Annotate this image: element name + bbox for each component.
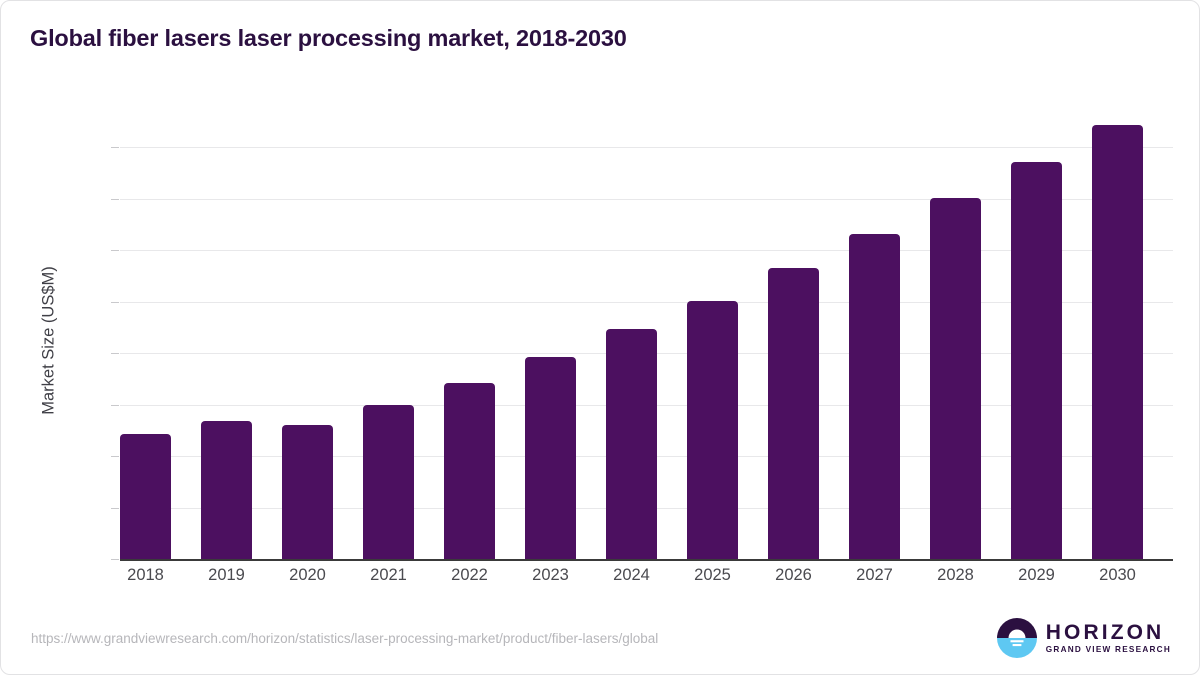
y-tick-label: 0 [0, 550, 1, 569]
horizon-sun-circle-icon [997, 618, 1037, 658]
y-tick-mark [111, 456, 119, 457]
y-tick-mark [111, 559, 119, 560]
y-tick-label: 3k [0, 396, 1, 415]
bar-2024[interactable] [606, 329, 657, 559]
y-tick-label: 5k [0, 293, 1, 312]
x-tick-label-2020: 2020 [263, 566, 353, 585]
y-tick-label: 1k [0, 499, 1, 518]
bar-2028[interactable] [930, 198, 981, 559]
source-url[interactable]: https://www.grandviewresearch.com/horizo… [31, 631, 658, 646]
x-tick-label-2025: 2025 [668, 566, 758, 585]
logo-wordmark: HORIZON [1046, 622, 1171, 643]
x-tick-label-2024: 2024 [587, 566, 677, 585]
y-tick-mark [111, 302, 119, 303]
y-axis-title: Market Size (US$M) [40, 231, 59, 451]
chart-page: Global fiber lasers laser processing mar… [0, 0, 1200, 675]
bar-2029[interactable] [1011, 162, 1062, 559]
plot-area [120, 106, 1173, 559]
bar-2023[interactable] [525, 357, 576, 559]
y-tick-mark [111, 405, 119, 406]
bar-2026[interactable] [768, 268, 819, 559]
y-tick-label: 2k [0, 447, 1, 466]
logo-tagline: GRAND VIEW RESEARCH [1046, 646, 1171, 654]
y-tick-label: 7k [0, 190, 1, 209]
y-tick-label: 8k [0, 138, 1, 157]
y-tick-label: 6k [0, 241, 1, 260]
bar-2025[interactable] [687, 301, 738, 559]
page-title: Global fiber lasers laser processing mar… [30, 25, 627, 52]
y-tick-mark [111, 147, 119, 148]
gridline [120, 147, 1173, 148]
bar-2021[interactable] [363, 405, 414, 559]
x-tick-label-2028: 2028 [911, 566, 1001, 585]
x-tick-label-2018: 2018 [101, 566, 191, 585]
y-tick-mark [111, 250, 119, 251]
y-tick-mark [111, 508, 119, 509]
bar-2018[interactable] [120, 434, 171, 559]
x-tick-label-2022: 2022 [425, 566, 515, 585]
x-tick-label-2023: 2023 [506, 566, 596, 585]
x-axis-line [120, 559, 1173, 561]
y-tick-mark [111, 353, 119, 354]
bar-2030[interactable] [1092, 125, 1143, 559]
y-tick-label: 4k [0, 344, 1, 363]
x-tick-label-2019: 2019 [182, 566, 272, 585]
bar-2027[interactable] [849, 234, 900, 559]
y-tick-mark [111, 199, 119, 200]
x-tick-label-2027: 2027 [830, 566, 920, 585]
x-tick-label-2030: 2030 [1073, 566, 1163, 585]
horizon-logo[interactable]: HORIZON GRAND VIEW RESEARCH [997, 618, 1171, 658]
bar-2019[interactable] [201, 421, 252, 559]
bar-2022[interactable] [444, 383, 495, 559]
x-tick-label-2026: 2026 [749, 566, 839, 585]
logo-text: HORIZON GRAND VIEW RESEARCH [1046, 622, 1171, 654]
x-tick-label-2029: 2029 [992, 566, 1082, 585]
x-tick-label-2021: 2021 [344, 566, 434, 585]
bar-2020[interactable] [282, 425, 333, 559]
